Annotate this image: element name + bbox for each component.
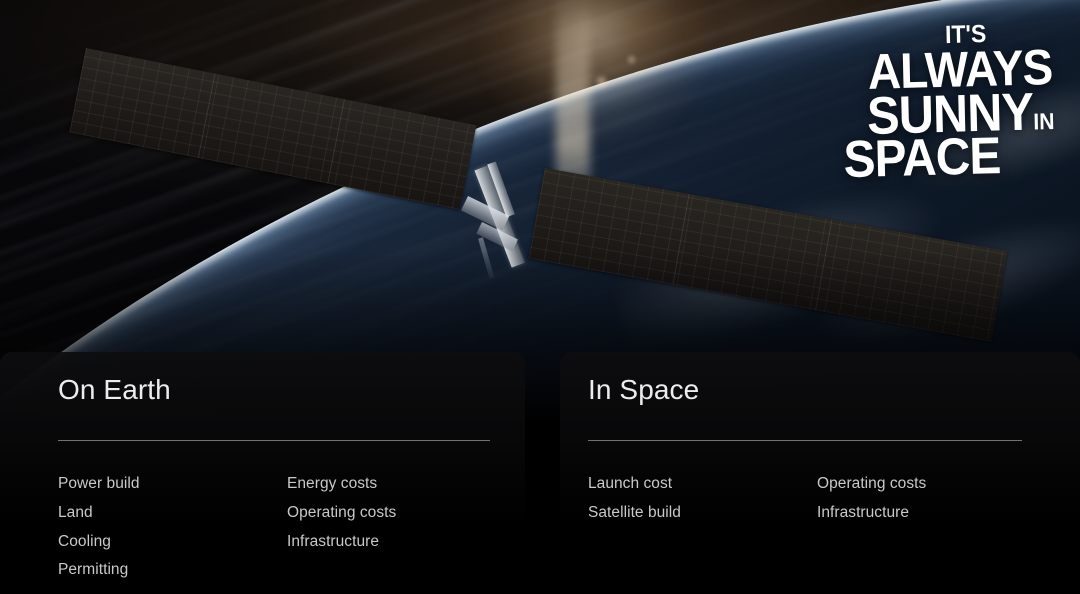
list-item[interactable]: Infrastructure [817, 499, 1046, 528]
list-item[interactable]: Permitting [58, 556, 287, 585]
logo-its-always-sunny-in-space: IT'S ALWAYS SUNNYIN SPACE [830, 24, 1054, 179]
list-item[interactable]: Energy costs [287, 470, 516, 499]
comparison-panels: On Earth Power build Land Cooling Permit… [0, 352, 1080, 594]
panel-divider [58, 440, 490, 441]
page-root: IT'S ALWAYS SUNNYIN SPACE On Earth Power… [0, 0, 1080, 594]
column-right: Operating costs Infrastructure [817, 470, 1046, 528]
panel-in-space: In Space Launch cost Satellite build Ope… [560, 352, 1080, 594]
panel-title-in-space: In Space [588, 374, 699, 406]
panel-columns-on-earth: Power build Land Cooling Permitting Ener… [58, 470, 516, 585]
solar-array-left [69, 48, 476, 210]
list-item[interactable]: Power build [58, 470, 287, 499]
panel-title-on-earth: On Earth [58, 374, 171, 406]
list-item[interactable]: Operating costs [817, 470, 1046, 499]
logo-line-space: SPACE [843, 134, 1001, 183]
list-item[interactable]: Infrastructure [287, 528, 516, 557]
column-left: Power build Land Cooling Permitting [58, 470, 287, 585]
list-item[interactable]: Cooling [58, 528, 287, 557]
panel-divider [588, 440, 1022, 441]
column-left: Launch cost Satellite build [588, 470, 817, 528]
column-right: Energy costs Operating costs Infrastruct… [287, 470, 516, 585]
list-item[interactable]: Launch cost [588, 470, 817, 499]
satellite-boom [478, 237, 494, 279]
panel-on-earth: On Earth Power build Land Cooling Permit… [0, 352, 525, 594]
panel-columns-in-space: Launch cost Satellite build Operating co… [588, 470, 1046, 528]
logo-word-in: IN [1033, 108, 1055, 135]
list-item[interactable]: Satellite build [588, 499, 817, 528]
list-item[interactable]: Operating costs [287, 499, 516, 528]
solar-array-right [529, 168, 1008, 342]
list-item[interactable]: Land [58, 499, 287, 528]
